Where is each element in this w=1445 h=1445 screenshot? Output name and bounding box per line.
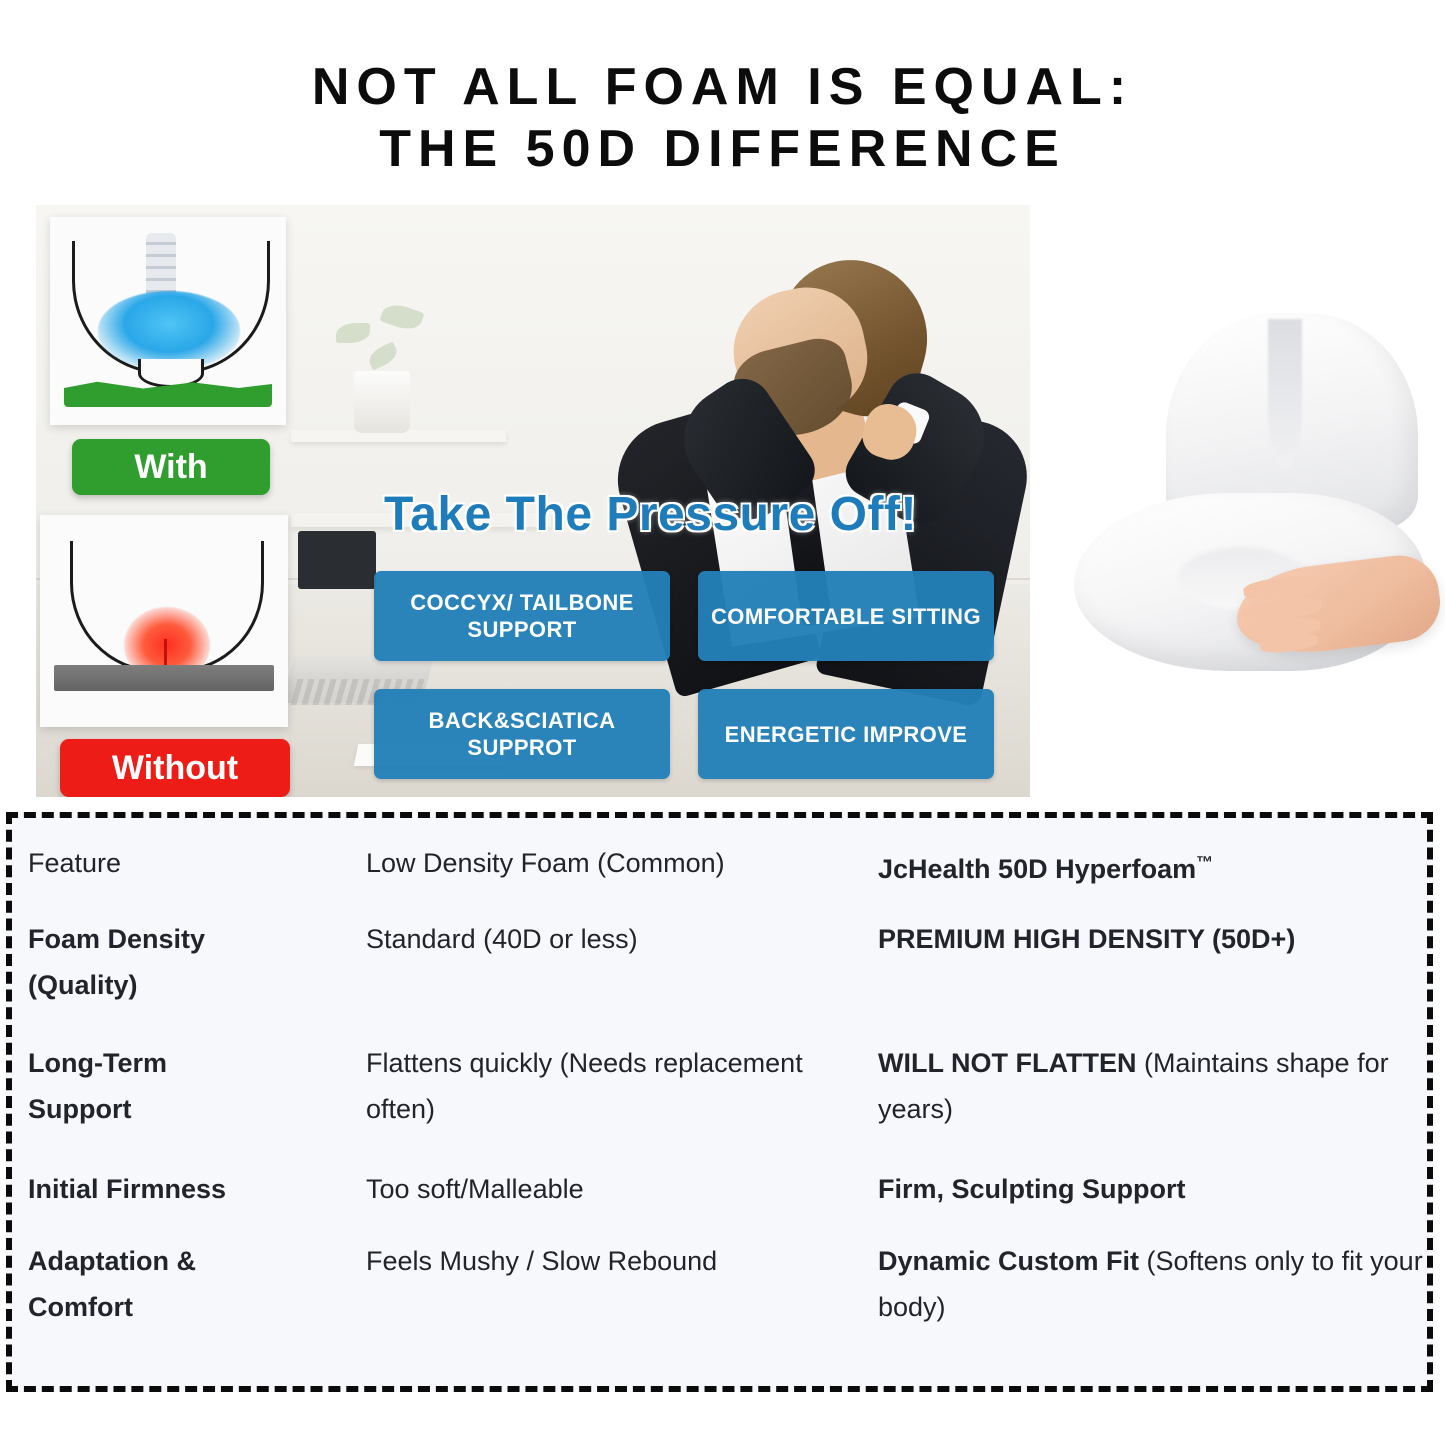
pain-line-icon <box>164 639 167 667</box>
header-brand-text: JcHealth 50D Hyperfoam <box>878 854 1196 884</box>
hero-section: Take The Pressure Off! COCCYX/ TAILBONE … <box>0 205 1445 805</box>
cell-common-firmness: Too soft/Malleable <box>366 1166 866 1212</box>
comparison-table: Feature Low Density Foam (Common) JcHeal… <box>6 812 1433 1392</box>
badge-back-sciatica-support[interactable]: BACK&SCIATICA SUPPROT <box>374 689 670 779</box>
row-label-initial-firmness: Initial Firmness <box>28 1166 358 1212</box>
title-line-1: NOT ALL FOAM IS EQUAL: <box>0 56 1445 118</box>
page-title: NOT ALL FOAM IS EQUAL: THE 50D DIFFERENC… <box>0 56 1445 180</box>
title-line-2: THE 50D DIFFERENCE <box>0 118 1445 180</box>
hero-headline: Take The Pressure Off! <box>384 487 917 542</box>
premium-emphasis: Firm, Sculpting Support <box>878 1174 1185 1204</box>
hard-surface-icon <box>54 665 274 691</box>
row-label-line1: Adaptation & <box>28 1246 196 1276</box>
badge-comfortable-sitting[interactable]: COMFORTABLE SITTING <box>698 571 994 661</box>
lifestyle-photo: Take The Pressure Off! COCCYX/ TAILBONE … <box>36 205 1030 797</box>
premium-emphasis: Dynamic Custom Fit <box>878 1246 1139 1276</box>
premium-emphasis: PREMIUM HIGH DENSITY (50D+) <box>878 924 1295 954</box>
pelvis-highlight-icon <box>98 291 240 369</box>
badge-energetic-improve[interactable]: ENERGETIC IMPROVE <box>698 689 994 779</box>
plant-pot-icon <box>354 371 410 433</box>
cell-common-long-term: Flattens quickly (Needs replacement ofte… <box>366 1040 866 1132</box>
benefit-badges: COCCYX/ TAILBONE SUPPORT COMFORTABLE SIT… <box>374 571 1006 791</box>
trademark-icon: ™ <box>1196 853 1213 872</box>
without-label: Without <box>60 739 290 797</box>
header-jchealth-hyperfoam: JcHealth 50D Hyperfoam™ <box>878 840 1423 892</box>
badge-coccyx-support[interactable]: COCCYX/ TAILBONE SUPPORT <box>374 571 670 661</box>
cell-premium-long-term: WILL NOT FLATTEN (Maintains shape for ye… <box>878 1040 1423 1132</box>
cell-premium-adaptation: Dynamic Custom Fit (Softens only to fit … <box>878 1238 1423 1330</box>
with-without-comparison: With Without <box>36 217 316 793</box>
with-cushion-diagram <box>50 217 286 425</box>
without-cushion-diagram <box>40 515 288 727</box>
cell-common-foam-density: Standard (40D or less) <box>366 916 866 962</box>
cell-premium-firmness: Firm, Sculpting Support <box>878 1166 1423 1212</box>
cell-premium-foam-density: PREMIUM HIGH DENSITY (50D+) <box>878 916 1423 962</box>
row-label-line1: Long-Term <box>28 1048 167 1078</box>
row-label-line2: (Quality) <box>28 970 138 1000</box>
row-label-line2: Comfort <box>28 1292 133 1322</box>
row-label-line1: Foam Density <box>28 924 205 954</box>
header-feature: Feature <box>28 840 358 886</box>
with-label: With <box>72 439 270 495</box>
back-cushion-groove <box>1268 319 1302 469</box>
product-photo <box>1040 295 1440 695</box>
premium-emphasis: WILL NOT FLATTEN <box>878 1048 1136 1078</box>
row-label-adaptation-comfort: Adaptation & Comfort <box>28 1238 358 1330</box>
row-label-long-term-support: Long-Term Support <box>28 1040 358 1132</box>
cell-common-adaptation: Feels Mushy / Slow Rebound <box>366 1238 866 1284</box>
row-label-foam-density: Foam Density (Quality) <box>28 916 358 1008</box>
header-low-density: Low Density Foam (Common) <box>366 840 866 886</box>
row-label-line2: Support <box>28 1094 131 1124</box>
